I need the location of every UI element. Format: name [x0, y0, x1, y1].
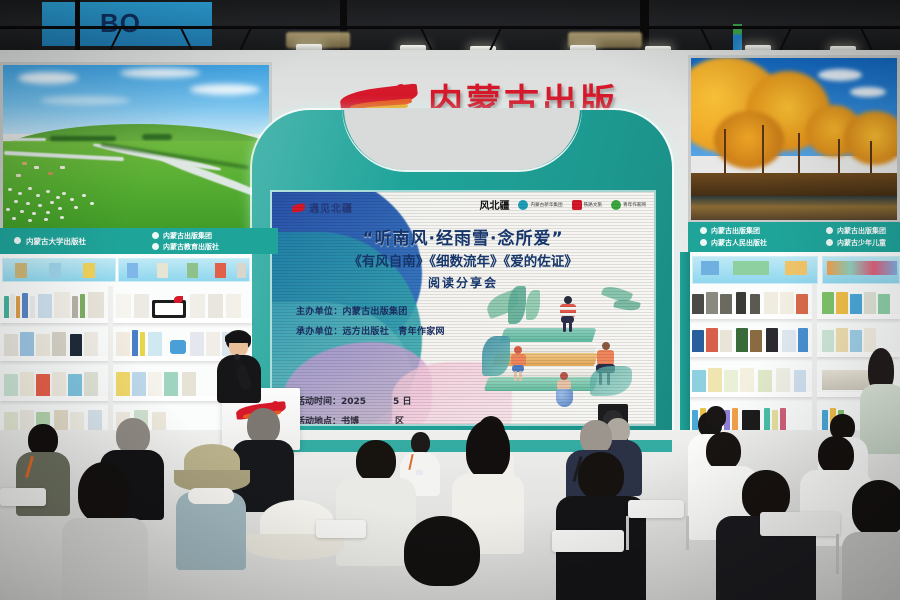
- sponsor-glyph-icon: [572, 200, 582, 210]
- leaf: [508, 286, 526, 324]
- sponsor-logo-red: 铁路文旅: [572, 200, 602, 210]
- screen-organizer: 主办单位：内蒙古出版集团: [296, 304, 408, 317]
- chair-back: [552, 530, 624, 552]
- audience-member: [394, 516, 504, 600]
- truss-brace: [239, 28, 252, 52]
- sponsor-logo-teal: 内蒙古新华集团: [518, 200, 562, 210]
- book-stack-bottom: [484, 377, 599, 391]
- audience-member: [556, 452, 646, 600]
- publisher-mark-icon: [14, 237, 21, 244]
- chair-back: [628, 500, 684, 518]
- truss-brace: [860, 28, 873, 52]
- sponsor-logo-row: 风北疆 内蒙古新华集团 铁路文旅 青年作家网: [479, 197, 646, 212]
- audience-member: [62, 462, 148, 600]
- audience-member: [246, 500, 356, 600]
- publisher-mark-icon: [700, 227, 707, 234]
- shelf-header-display: [692, 256, 818, 284]
- screen-corner-logo: 遇见北疆: [292, 200, 353, 215]
- speaker-person: [210, 330, 266, 410]
- audience-member: [172, 444, 250, 564]
- horse-mark-icon: [292, 203, 306, 212]
- illustration-person-reading: [508, 346, 532, 380]
- truss-brace: [700, 28, 713, 52]
- illustration-person-cheering: [556, 296, 582, 330]
- overhead-banner-text: BO: [100, 8, 141, 39]
- leaf: [482, 336, 510, 376]
- hair-top: [225, 332, 251, 343]
- sponsor-glyph-icon: [611, 200, 621, 210]
- photo-frame: [688, 55, 900, 223]
- leaf: [526, 290, 540, 320]
- publisher-mark-icon: [152, 243, 159, 250]
- truss-brace: [779, 28, 792, 52]
- shelf-divider: [812, 284, 817, 450]
- screen-book-titles: 《有风自南》《细数流年》《爱的佐证》: [272, 250, 654, 270]
- publisher-mark-icon: [826, 239, 833, 246]
- shelf-header-display: [2, 258, 116, 282]
- shelf-promo-badge: [170, 340, 186, 354]
- sponsor-glyph-icon: [518, 200, 528, 210]
- chair-back: [316, 520, 366, 538]
- screen-illustration: [482, 284, 650, 420]
- publisher-mark-icon: [152, 232, 159, 239]
- publisher-mark-icon: [826, 227, 833, 234]
- chair-back: [760, 512, 840, 536]
- leaf: [590, 366, 632, 396]
- chair-leg: [836, 534, 839, 574]
- screen-event-time: 活动时间：2025 5 日: [296, 394, 411, 407]
- screen-coorganizer: 承办单位：远方出版社 青年作家网: [296, 324, 445, 337]
- leaf: [613, 297, 641, 312]
- right-sign-label-1: 内蒙古出版集团: [711, 226, 760, 236]
- sponsor-logo-wordmark: 风北疆: [479, 197, 509, 212]
- arch-notch-edge: [342, 108, 582, 172]
- led-presentation-screen: 遇见北疆 风北疆 内蒙古新华集团 铁路文旅 青年作家网 “听南风·经雨雪·念所爱…: [272, 192, 654, 424]
- chair-leg: [626, 516, 629, 550]
- microphone-head: [234, 354, 240, 360]
- illustration-person-standing: [554, 372, 578, 410]
- right-sign-label-4: 内蒙古少年儿童: [837, 238, 886, 248]
- shelf-board: [688, 314, 900, 319]
- photo-frame: [0, 62, 272, 234]
- left-sign-label-3: 内蒙古教育出版社: [163, 242, 219, 252]
- shelf-header-display: [822, 256, 900, 284]
- screen-event-title: “听南风·经雨雪·念所爱”: [272, 224, 654, 249]
- photo-scene: BO: [0, 0, 900, 600]
- publisher-mark-icon: [700, 239, 707, 246]
- chair-leg: [686, 516, 689, 550]
- shelf-promo-card: [152, 300, 186, 318]
- audience-member: [842, 480, 900, 600]
- autumn-forest-photo-panel: [688, 55, 900, 223]
- shelf-board: [0, 318, 252, 323]
- screen-event-place: 活动地点：书博 区: [296, 414, 404, 424]
- right-sign-label-2: 内蒙古人民出版社: [711, 238, 767, 248]
- ceiling-column: [75, 0, 80, 56]
- shelf-header-display: [118, 258, 250, 282]
- screen-corner-logo-text: 遇见北疆: [309, 200, 353, 215]
- ceiling-beam: [0, 26, 900, 28]
- grassland-photo-panel: [0, 62, 272, 234]
- right-sign-label-3: 内蒙古出版集团: [837, 226, 886, 236]
- left-sign-label-1: 内蒙古大学出版社: [26, 236, 86, 247]
- sponsor-logo-green: 青年作家网: [611, 200, 646, 210]
- left-sign-label-2: 内蒙古出版集团: [163, 231, 212, 241]
- chair-back: [0, 488, 46, 506]
